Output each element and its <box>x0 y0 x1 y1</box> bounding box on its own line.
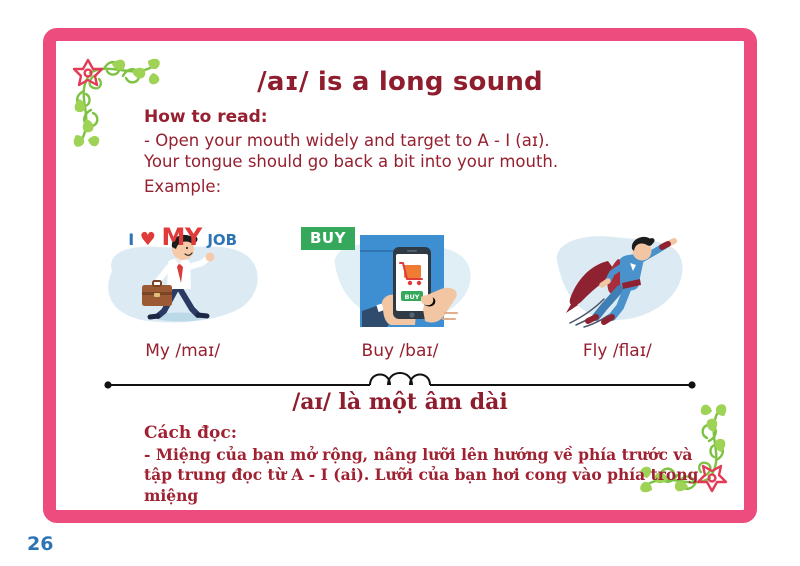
page-title: /aɪ/ is a long sound <box>56 67 744 97</box>
examples-row: I ♥ MY JOB <box>74 211 726 361</box>
worksheet-content: /aɪ/ is a long sound How to read: - Open… <box>56 41 744 510</box>
example-caption-my: My /maɪ/ <box>145 341 220 361</box>
vietnamese-instructions: Cách đọc: - Miệng của bạn mở rộng, nâng … <box>144 423 704 506</box>
example-item-fly: Fly /flaɪ/ <box>515 225 720 361</box>
svg-text:BUY: BUY <box>405 293 420 301</box>
english-instructions: How to read: - Open your mouth widely an… <box>144 107 704 196</box>
instruction-line-2: Your tongue should go back a bit into yo… <box>144 151 704 172</box>
how-to-read-heading: How to read: <box>144 107 704 127</box>
businessman-walking-illustration: I ♥ MY JOB <box>88 225 278 337</box>
vietnamese-line-1: - Miệng của bạn mở rộng, nâng lưỡi lên h… <box>144 445 704 465</box>
cach-doc-heading: Cách đọc: <box>144 423 704 443</box>
example-label: Example: <box>144 177 704 196</box>
example-caption-fly: Fly /flaɪ/ <box>583 341 652 361</box>
flying-superhero-illustration <box>522 225 712 337</box>
worksheet-card: /aɪ/ is a long sound How to read: - Open… <box>43 28 757 523</box>
vietnamese-line-2: tập trung đọc từ A - I (ai). Lưỡi của bạ… <box>144 465 704 485</box>
buy-tag-label: BUY <box>301 227 355 250</box>
example-caption-buy: Buy /baɪ/ <box>362 341 439 361</box>
vietnamese-title: /aɪ/ là một âm dài <box>56 389 744 415</box>
instruction-line-1: - Open your mouth widely and target to A… <box>144 130 704 151</box>
word-job: JOB <box>207 231 237 249</box>
page-number: 26 <box>27 533 53 555</box>
vietnamese-line-3: miệng <box>144 486 704 506</box>
hand-holding-phone-shopping-illustration: BUY <box>305 225 495 337</box>
heart-icon: ♥ <box>140 229 156 250</box>
letter-i: I <box>128 230 134 249</box>
word-my: MY <box>161 223 201 251</box>
i-love-my-job-lettering: I ♥ MY JOB <box>128 223 237 251</box>
example-item-my: I ♥ MY JOB <box>80 225 285 361</box>
example-item-buy: BUY <box>297 225 502 361</box>
